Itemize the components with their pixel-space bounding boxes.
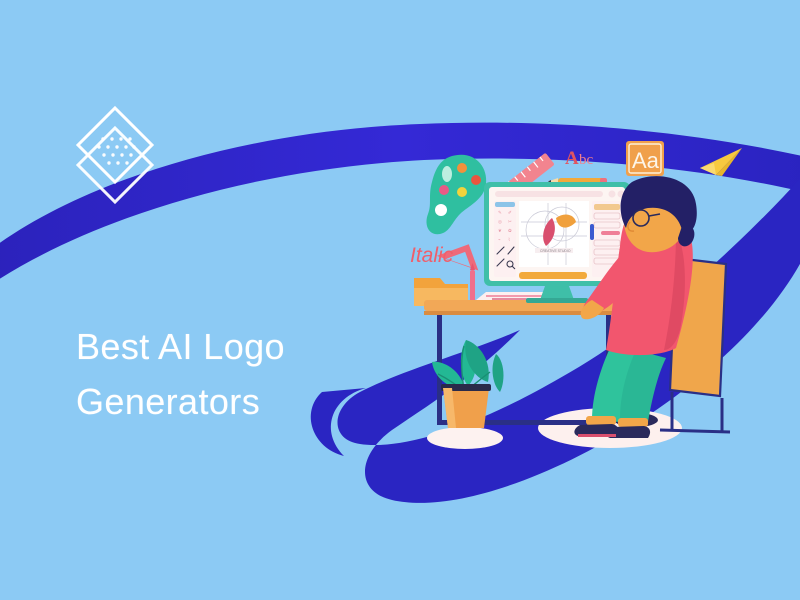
svg-text:✿: ✿ bbox=[508, 228, 512, 233]
svg-text:❦: ❦ bbox=[498, 228, 502, 233]
svg-text:CREATIVE STUDIO: CREATIVE STUDIO bbox=[540, 249, 571, 253]
svg-text:✂: ✂ bbox=[508, 219, 512, 224]
svg-text:bc: bc bbox=[579, 152, 594, 168]
svg-text:✎: ✎ bbox=[498, 210, 502, 215]
svg-text:Italic: Italic bbox=[410, 244, 454, 267]
abc-label: A bc bbox=[565, 148, 594, 169]
svg-text:⌁: ⌁ bbox=[498, 237, 501, 242]
aa-label: Aa bbox=[626, 141, 664, 176]
page-title: Best AI Logo Generators bbox=[76, 320, 406, 429]
svg-text:⌇: ⌇ bbox=[508, 237, 510, 242]
italic-label: Italic bbox=[410, 244, 454, 267]
app-toolbar: ✎✐ ◎✂ ❦✿ ⌁⌇ bbox=[494, 201, 516, 277]
svg-text:Aa: Aa bbox=[632, 148, 660, 173]
plant-floor-shadow bbox=[427, 427, 503, 449]
app-canvas: CREATIVE STUDIO bbox=[519, 201, 589, 267]
svg-text:✐: ✐ bbox=[508, 210, 512, 215]
svg-text:A: A bbox=[565, 148, 579, 169]
poster-canvas: ✎✐ ◎✂ ❦✿ ⌁⌇ bbox=[0, 0, 800, 600]
illustration-artwork: ✎✐ ◎✂ ❦✿ ⌁⌇ bbox=[0, 0, 800, 600]
